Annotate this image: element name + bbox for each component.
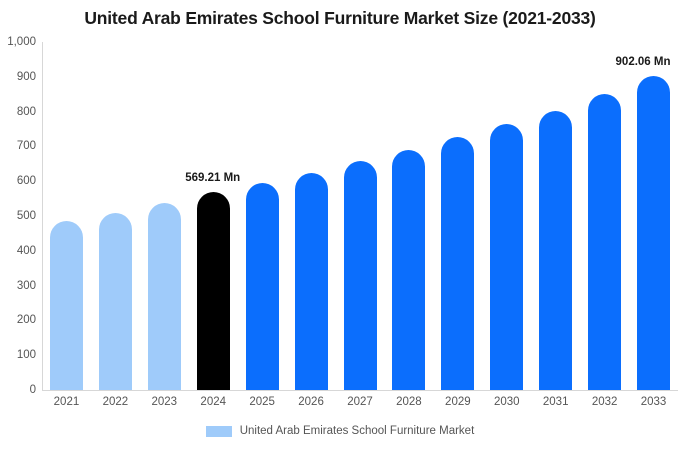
y-axis-tick-100: 100: [0, 349, 36, 361]
bar-2032[interactable]: [588, 94, 621, 390]
bar-2021[interactable]: [50, 221, 83, 390]
bar-data-label-2033: 902.06 Mn: [616, 56, 671, 68]
x-axis-tick-2021: 2021: [54, 396, 80, 408]
bar-2033[interactable]: [637, 76, 670, 390]
y-axis-tick-700: 700: [0, 140, 36, 152]
y-axis-tick-500: 500: [0, 210, 36, 222]
x-axis-tick-2030: 2030: [494, 396, 520, 408]
x-axis-tick-2033: 2033: [641, 396, 667, 408]
y-axis-tick-1000: 1,000: [0, 36, 36, 48]
x-axis-tick-2023: 2023: [152, 396, 178, 408]
x-axis-tick-2032: 2032: [592, 396, 618, 408]
x-axis-tick-2026: 2026: [298, 396, 324, 408]
bar-2031[interactable]: [539, 111, 572, 390]
bar-2027[interactable]: [344, 161, 377, 390]
bar-data-label-2024: 569.21 Mn: [185, 172, 240, 184]
bar-2028[interactable]: [392, 150, 425, 390]
y-axis-tick-200: 200: [0, 314, 36, 326]
bar-2024[interactable]: [197, 192, 230, 390]
y-axis-tick-600: 600: [0, 175, 36, 187]
chart-container: United Arab Emirates School Furniture Ma…: [0, 0, 680, 450]
x-axis-tick-2022: 2022: [103, 396, 129, 408]
y-axis-tick-800: 800: [0, 106, 36, 118]
y-axis-tick-400: 400: [0, 245, 36, 257]
bar-2026[interactable]: [295, 173, 328, 391]
bar-2029[interactable]: [441, 137, 474, 390]
bar-2023[interactable]: [148, 203, 181, 390]
x-axis-tick-2025: 2025: [249, 396, 275, 408]
bar-2022[interactable]: [99, 213, 132, 390]
y-axis-tick-300: 300: [0, 280, 36, 292]
bars-layer: 569.21 Mn902.06 Mn: [42, 42, 678, 390]
y-axis-tick-labels: 01002003004005006007008009001,000: [0, 42, 36, 390]
x-axis-tick-labels: 2021202220232024202520262027202820292030…: [42, 396, 678, 416]
x-axis-tick-2027: 2027: [347, 396, 373, 408]
chart-legend: United Arab Emirates School Furniture Ma…: [0, 425, 680, 437]
x-axis-tick-2024: 2024: [200, 396, 226, 408]
bar-2030[interactable]: [490, 124, 523, 390]
legend-label: United Arab Emirates School Furniture Ma…: [240, 425, 475, 437]
x-axis-tick-2031: 2031: [543, 396, 569, 408]
y-axis-tick-900: 900: [0, 71, 36, 83]
bar-2025[interactable]: [246, 183, 279, 390]
y-axis-tick-0: 0: [0, 384, 36, 396]
x-axis-tick-2029: 2029: [445, 396, 471, 408]
chart-title: United Arab Emirates School Furniture Ma…: [0, 8, 680, 29]
x-axis-tick-2028: 2028: [396, 396, 422, 408]
x-axis-line: [42, 390, 678, 391]
legend-swatch-icon: [206, 426, 232, 437]
